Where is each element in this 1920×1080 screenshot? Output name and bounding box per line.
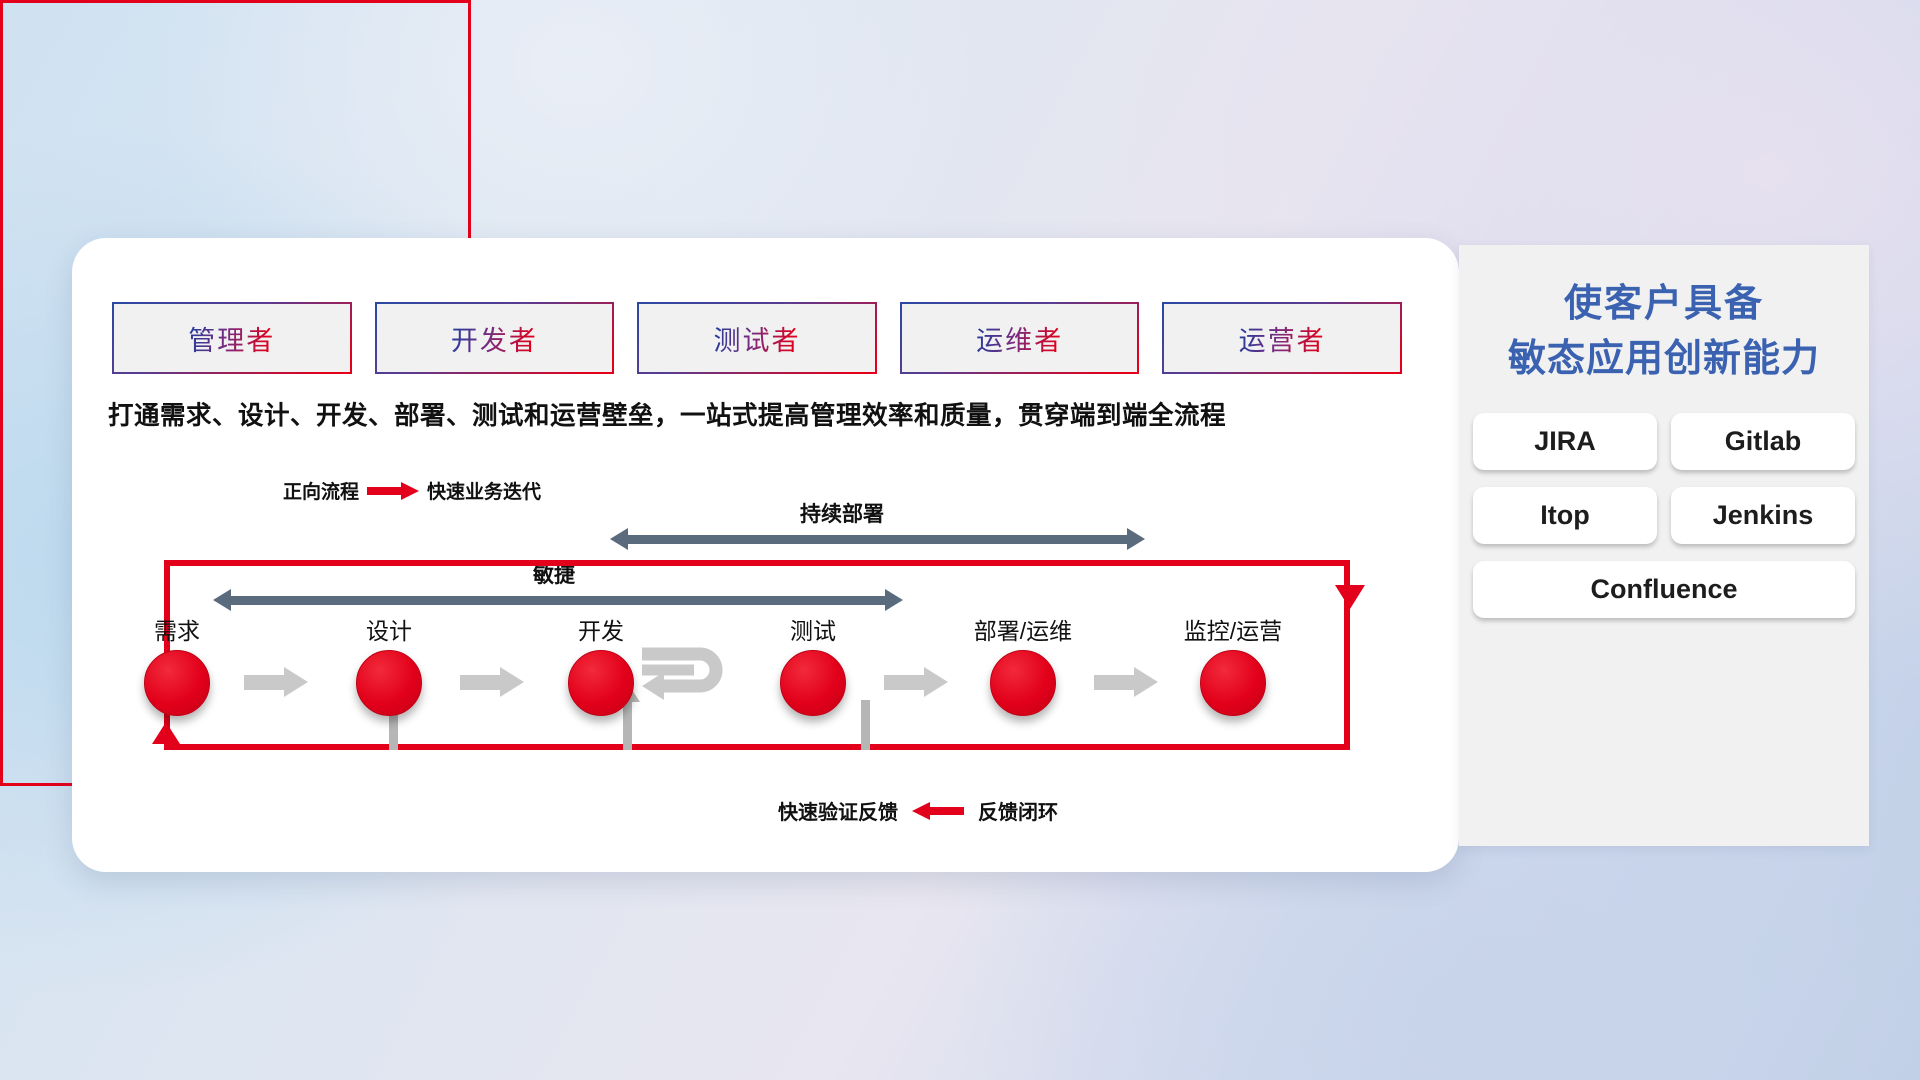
stage-label: 设计 xyxy=(324,612,454,646)
arrow-left-red-icon xyxy=(912,802,964,820)
legend-forward-right-label: 快速业务迭代 xyxy=(427,477,541,504)
role-box-manager[interactable]: 管理者 xyxy=(112,302,352,374)
role-label: 运营者 xyxy=(1239,319,1326,358)
role-box-inner: 运维者 xyxy=(902,304,1138,372)
role-box-inner: 管理者 xyxy=(114,304,350,372)
tool-chip-gitlab[interactable]: Gitlab xyxy=(1671,413,1855,470)
slide-canvas: 管理者 开发者 测试者 运维者 运营者 打通需求、设计、开发、部署、测试和运营壁… xyxy=(0,0,1920,1080)
stage-label: 监控/运营 xyxy=(1168,612,1298,646)
chevron-stem xyxy=(884,675,924,690)
role-box-developer[interactable]: 开发者 xyxy=(375,302,615,374)
arrow-continuous-deployment-icon xyxy=(610,528,1145,550)
arrow-bar xyxy=(627,535,1128,544)
role-box-inner: 开发者 xyxy=(377,304,613,372)
stage-dot-icon xyxy=(780,650,846,716)
right-panel: 使客户具备 敏态应用创新能力 JIRA Gitlab Itop Jenkins … xyxy=(1459,245,1869,846)
roles-row: 管理者 开发者 测试者 运维者 运营者 xyxy=(112,302,1402,374)
stage-label: 测试 xyxy=(748,612,878,646)
panel-headline: 使客户具备 敏态应用创新能力 xyxy=(1459,277,1869,387)
stage-dot-icon xyxy=(356,650,422,716)
role-label: 管理者 xyxy=(188,319,275,358)
chevron-arrow-icon xyxy=(1094,667,1158,697)
pipeline-stage-requirement[interactable]: 需求 xyxy=(112,612,242,716)
legend-feedback-loop: 快速验证反馈 反馈闭环 xyxy=(778,796,1058,825)
tool-chip-grid: JIRA Gitlab Itop Jenkins Confluence xyxy=(1473,413,1855,618)
tool-chip-jenkins[interactable]: Jenkins xyxy=(1671,487,1855,544)
stage-dot-icon xyxy=(990,650,1056,716)
role-label: 运维者 xyxy=(976,319,1063,358)
legend-forward-flow: 正向流程 快速业务迭代 xyxy=(283,477,541,504)
role-box-inner: 测试者 xyxy=(639,304,875,372)
role-box-ops[interactable]: 运维者 xyxy=(900,302,1140,374)
chevron-stem xyxy=(460,675,500,690)
chevron-tip xyxy=(284,667,308,697)
tool-chip-itop[interactable]: Itop xyxy=(1473,487,1657,544)
role-label: 开发者 xyxy=(451,319,538,358)
arrow-head-left xyxy=(610,528,628,550)
legend-feedback-left-label: 快速验证反馈 xyxy=(778,796,898,825)
pipeline-stage-test[interactable]: 测试 xyxy=(748,612,878,716)
chevron-tip xyxy=(1134,667,1158,697)
stage-dot-icon xyxy=(1200,650,1266,716)
role-box-inner: 运营者 xyxy=(1164,304,1400,372)
stage-dot-icon xyxy=(568,650,634,716)
arrow-right-red-icon xyxy=(367,482,419,500)
role-box-tester[interactable]: 测试者 xyxy=(637,302,877,374)
panel-headline-line1: 使客户具备 xyxy=(1459,277,1869,332)
pipeline-stage-monitor-operate[interactable]: 监控/运营 xyxy=(1168,612,1298,716)
description-text: 打通需求、设计、开发、部署、测试和运营壁垒，一站式提高管理效率和质量，贯穿端到端… xyxy=(108,395,1418,432)
legend-feedback-right-label: 反馈闭环 xyxy=(978,796,1058,825)
arrow-head-right xyxy=(1127,528,1145,550)
chevron-arrow-icon xyxy=(460,667,524,697)
rework-loop-arrow-icon xyxy=(638,640,734,702)
chevron-tip xyxy=(500,667,524,697)
stage-label: 部署/运维 xyxy=(958,612,1088,646)
chevron-arrow-icon xyxy=(884,667,948,697)
chevron-stem xyxy=(244,675,284,690)
pipeline-stage-deploy-ops[interactable]: 部署/运维 xyxy=(958,612,1088,716)
pipeline: 需求 设计 开发 测试 部署/运维 xyxy=(112,612,1402,742)
chevron-arrow-icon xyxy=(244,667,308,697)
chevron-stem xyxy=(1094,675,1134,690)
label-continuous-deployment: 持续部署 xyxy=(800,498,884,528)
role-label: 测试者 xyxy=(713,319,800,358)
tool-chip-jira[interactable]: JIRA xyxy=(1473,413,1657,470)
stage-dot-icon xyxy=(144,650,210,716)
legend-forward-left-label: 正向流程 xyxy=(283,477,359,504)
stage-label: 需求 xyxy=(112,612,242,646)
chevron-tip xyxy=(924,667,948,697)
panel-headline-line2: 敏态应用创新能力 xyxy=(1459,332,1869,387)
pipeline-stage-design[interactable]: 设计 xyxy=(324,612,454,716)
tool-chip-confluence[interactable]: Confluence xyxy=(1473,561,1855,618)
role-box-operator[interactable]: 运营者 xyxy=(1162,302,1402,374)
red-loop-arrowhead-down-icon xyxy=(1335,585,1365,609)
